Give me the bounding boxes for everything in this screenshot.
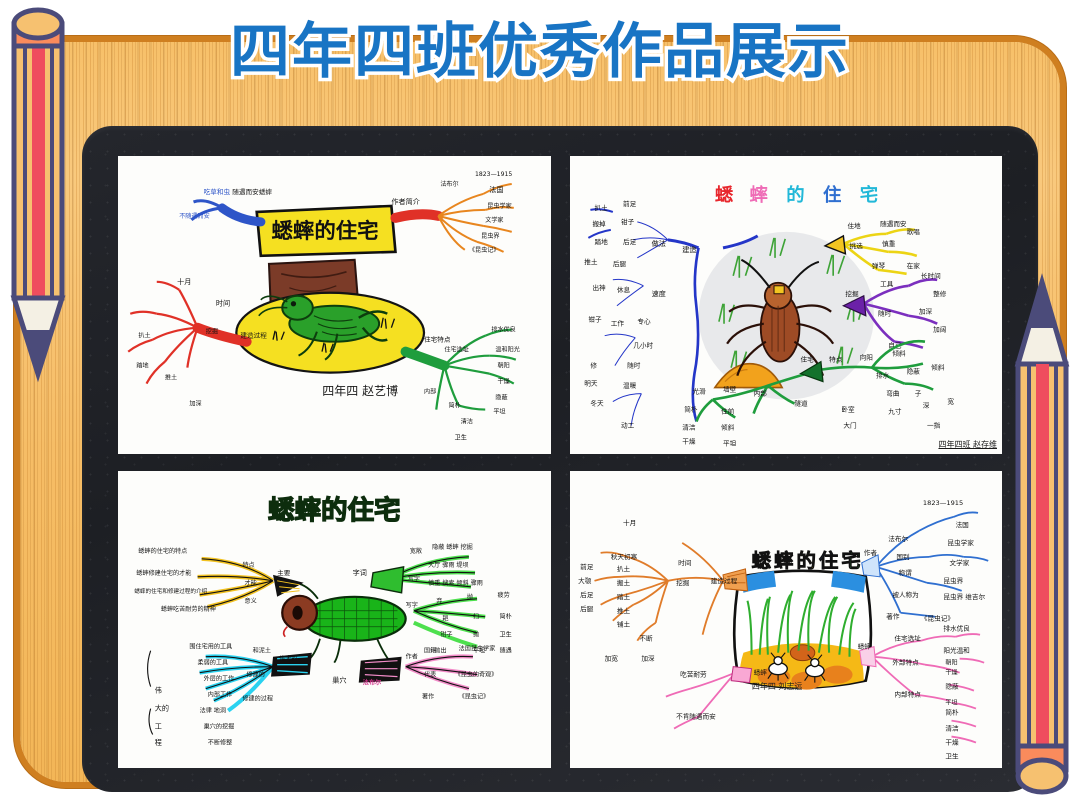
svg-text:建造过程: 建造过程 (710, 575, 737, 584)
svg-text:《昆虫记》: 《昆虫记》 (469, 246, 500, 254)
svg-text:明天: 明天 (584, 380, 598, 388)
svg-text:慎重: 慎重 (882, 239, 896, 248)
svg-text:慎重 搜索 倾斜 骤雨: 慎重 搜索 倾斜 骤雨 (428, 578, 483, 586)
svg-text:简朴: 简朴 (684, 405, 698, 414)
svg-text:国别: 国别 (896, 551, 909, 560)
svg-text:巢穴: 巢穴 (332, 675, 346, 684)
svg-text:卫生: 卫生 (945, 751, 959, 760)
svg-text:代表: 代表 (424, 670, 436, 678)
svg-text:倾斜: 倾斜 (720, 423, 734, 432)
svg-text:加阔: 加阔 (933, 325, 946, 334)
svg-text:推土: 推土 (165, 374, 177, 382)
mindmap-drawing-1: 蟋蟀的住宅 吃草和虫 不随遇而安 随遇而安蟋蟀 (118, 156, 551, 454)
svg-text:内部: 内部 (424, 388, 436, 396)
svg-text:倾斜: 倾斜 (931, 363, 945, 372)
svg-text:内部工作: 内部工作 (208, 690, 232, 698)
svg-text:伟: 伟 (155, 685, 162, 694)
svg-text:伟大的: 伟大的 (279, 654, 297, 662)
svg-text:歌唱: 歌唱 (906, 227, 920, 236)
svg-text:十月: 十月 (177, 277, 191, 286)
svg-text:蟋蟀吃苦耐劳的精神: 蟋蟀吃苦耐劳的精神 (161, 604, 216, 612)
svg-text:1823—1915: 1823—1915 (922, 499, 962, 507)
svg-text:蟋蟀的住宅: 蟋蟀的住宅 (272, 218, 379, 243)
svg-text:时间: 时间 (216, 299, 230, 308)
blackboard: 蟋蟀的住宅 吃草和虫 不随遇而安 随遇而安蟋蟀 (82, 126, 1038, 792)
svg-text:宽: 宽 (947, 397, 954, 406)
svg-text:不随遇而安: 不随遇而安 (179, 212, 210, 220)
svg-text:蟋蟀: 蟋蟀 (753, 667, 767, 676)
svg-text:清洁: 清洁 (461, 418, 473, 426)
svg-text:住宅选址: 住宅选址 (444, 346, 468, 354)
svg-text:挖掘: 挖掘 (206, 328, 218, 336)
mindmap-drawing-2: 扒土 前足 搬掉 钳子 踏地 后足 推土 后腿 做法 建造 出神 休息 速度 钳… (570, 156, 1003, 454)
svg-text:特点: 特点 (242, 560, 254, 568)
svg-text:意义: 意义 (244, 596, 256, 604)
svg-text:抛: 抛 (467, 592, 473, 600)
svg-text:平坦: 平坦 (723, 439, 737, 448)
svg-text:写字: 写字 (406, 600, 418, 608)
svg-text:推土: 推土 (584, 257, 598, 266)
svg-text:作者: 作者 (863, 547, 877, 556)
svg-text:住地: 住地 (847, 221, 861, 230)
artwork-signature-4: 四年四 刘志远 (752, 682, 803, 692)
svg-text:向阳: 向阳 (859, 353, 872, 362)
svg-text:扒土: 扒土 (138, 332, 150, 340)
svg-text:的: 的 (796, 549, 815, 572)
svg-text:干燥: 干燥 (497, 378, 509, 386)
svg-text:弃: 弃 (436, 596, 442, 604)
mindmap-drawing-4: 蟋 蟀 的 住 宅 (570, 471, 1003, 769)
artwork-panel-grid: 蟋蟀的住宅 吃草和虫 不随遇而安 随遇而安蟋蟀 (118, 156, 1002, 768)
svg-text:挖掘: 挖掘 (845, 289, 859, 298)
svg-text:国籍: 国籍 (424, 646, 436, 654)
svg-text:平坦: 平坦 (945, 698, 957, 706)
svg-text:搬掉: 搬掉 (592, 219, 606, 228)
svg-text:九寸: 九寸 (888, 407, 902, 416)
pencil-right (1012, 268, 1072, 806)
svg-text:加深: 加深 (918, 307, 932, 316)
svg-text:内部: 内部 (753, 389, 767, 398)
svg-text:被人称为: 被人称为 (892, 589, 918, 598)
svg-text:扫: 扫 (473, 612, 479, 620)
svg-text:卫生: 卫生 (499, 630, 511, 638)
svg-text:吃苦耐劳: 吃苦耐劳 (680, 669, 707, 678)
svg-text:一指: 一指 (927, 421, 941, 430)
svg-text:不断: 不断 (639, 633, 653, 642)
svg-text:排水: 排水 (876, 371, 890, 380)
svg-text:著作: 著作 (886, 611, 900, 620)
svg-text:作者简介: 作者简介 (391, 197, 420, 206)
svg-text:做法: 做法 (651, 239, 665, 248)
artwork-signature-2: 四年四班 赵存维 (938, 440, 997, 450)
svg-text:法律 地洞: 法律 地洞 (200, 706, 226, 714)
svg-text:昆虫界: 昆虫界 (943, 575, 963, 584)
svg-text:时间: 时间 (678, 557, 691, 566)
svg-text:修建的过程: 修建的过程 (242, 694, 273, 702)
svg-text:《昆虫记》: 《昆虫记》 (459, 692, 490, 700)
svg-text:后腿: 后腿 (580, 603, 594, 612)
svg-text:阳光温和: 阳光温和 (943, 645, 969, 654)
svg-text:踏土: 踏土 (616, 591, 630, 600)
svg-text:前足: 前足 (623, 199, 637, 208)
svg-text:昆虫界 维吉尔: 昆虫界 维吉尔 (943, 591, 985, 600)
svg-text:宽敞: 宽敞 (410, 546, 422, 554)
svg-text:大的: 大的 (155, 703, 169, 712)
svg-text:几小时: 几小时 (633, 341, 653, 350)
svg-text:后足: 后足 (580, 589, 594, 598)
svg-text:加宽: 加宽 (604, 653, 618, 662)
svg-text:卧室: 卧室 (841, 405, 855, 414)
svg-text:随遇: 随遇 (499, 646, 511, 654)
svg-text:不断修整: 不断修整 (208, 738, 232, 746)
svg-text:昆虫学家: 昆虫学家 (487, 202, 511, 210)
svg-text:宅: 宅 (859, 184, 877, 206)
svg-text:加深: 加深 (189, 400, 201, 408)
svg-text:法布尔: 法布尔 (888, 533, 908, 542)
svg-text:写字: 写字 (408, 574, 420, 582)
svg-text:建造过程: 建造过程 (240, 331, 267, 340)
svg-text:昆虫学家: 昆虫学家 (947, 537, 974, 546)
svg-text:冬天: 冬天 (590, 399, 604, 408)
svg-text:动工: 动工 (621, 422, 635, 430)
mindmap-drawing-3: 蟋蟀的住宅 (118, 471, 551, 769)
svg-text:著作: 著作 (422, 692, 434, 700)
svg-text:法国: 法国 (489, 185, 503, 194)
svg-text:文学家: 文学家 (485, 216, 503, 224)
svg-text:法国昆虫学家: 法国昆虫学家 (459, 644, 496, 652)
svg-text:宅: 宅 (841, 549, 860, 572)
svg-text:干燥: 干燥 (945, 668, 957, 676)
svg-text:干燥: 干燥 (945, 737, 959, 746)
svg-text:程: 程 (155, 737, 162, 746)
svg-text:专心: 专心 (637, 317, 651, 326)
svg-text:十月: 十月 (623, 517, 636, 526)
svg-text:住宅特点: 住宅特点 (424, 335, 451, 344)
svg-text:修: 修 (590, 361, 597, 370)
svg-text:钳子: 钳子 (588, 315, 602, 324)
svg-text:不肯随遇而安: 不肯随遇而安 (676, 711, 716, 720)
artwork-panel-top-left[interactable]: 蟋蟀的住宅 吃草和虫 不随遇而安 随遇而安蟋蟀 (118, 156, 551, 454)
svg-text:蟋: 蟋 (714, 185, 733, 206)
svg-text:整修: 整修 (933, 289, 947, 298)
bulletin-board-screen: 蟋蟀的住宅 吃草和虫 不随遇而安 随遇而安蟋蟀 (0, 0, 1080, 810)
svg-text:大门: 大门 (843, 421, 856, 430)
svg-text:特点: 特点 (829, 355, 843, 364)
svg-text:搬土: 搬土 (616, 577, 630, 586)
svg-text:清洁: 清洁 (945, 723, 959, 732)
svg-text:修建的: 修建的 (247, 670, 265, 678)
svg-text:随遇而安蟋蟀: 随遇而安蟋蟀 (232, 187, 272, 196)
svg-text:抛: 抛 (473, 630, 479, 638)
svg-text:内部特点: 内部特点 (894, 689, 921, 698)
svg-text:长时间: 长时间 (920, 271, 940, 280)
svg-text:隐蔽: 隐蔽 (495, 394, 507, 402)
svg-text:前足: 前足 (580, 561, 594, 570)
svg-text:后腿: 后腿 (612, 259, 626, 268)
svg-text:简朴: 简朴 (499, 612, 511, 620)
svg-text:扒土: 扒土 (616, 563, 630, 572)
svg-text:外部特点: 外部特点 (892, 657, 919, 666)
svg-text:后足: 后足 (623, 237, 637, 246)
svg-text:蟋蟀: 蟋蟀 (857, 641, 871, 650)
svg-text:蟋蟀修建住宅的才能: 蟋蟀修建住宅的才能 (136, 568, 191, 576)
svg-text:清洁: 清洁 (682, 423, 696, 432)
svg-text:墙壁: 墙壁 (723, 385, 737, 394)
svg-text:排水优良: 排水优良 (943, 623, 970, 632)
svg-text:简朴: 简朴 (448, 402, 460, 410)
svg-text:蟋: 蟋 (751, 549, 771, 572)
svg-text:大厅 骤雨 堤坝: 大厅 骤雨 堤坝 (428, 560, 469, 568)
svg-text:扒土: 扒土 (594, 203, 608, 212)
svg-text:速度: 速度 (651, 289, 665, 298)
svg-text:住: 住 (822, 184, 840, 206)
svg-text:称谓: 称谓 (898, 567, 912, 576)
svg-text:挑选: 挑选 (849, 241, 863, 250)
svg-text:耙: 耙 (442, 614, 448, 622)
svg-text:大颚: 大颚 (578, 575, 592, 584)
svg-text:秋天初寒: 秋天初寒 (610, 551, 637, 560)
svg-text:卫生: 卫生 (455, 434, 467, 442)
svg-text:外层的工作: 外层的工作 (204, 674, 235, 682)
svg-text:深: 深 (922, 401, 929, 410)
svg-text:蟋蟀的住宅: 蟋蟀的住宅 (268, 495, 401, 526)
svg-text:蟀: 蟀 (774, 549, 793, 572)
svg-text:法国: 法国 (955, 519, 968, 528)
svg-text:随时: 随时 (878, 309, 892, 318)
artwork-signature-1: 四年四 赵艺博 (322, 382, 398, 399)
svg-text:子: 子 (914, 390, 921, 398)
svg-text:吃草和虫: 吃草和虫 (204, 187, 231, 196)
svg-text:弹琴: 弹琴 (871, 261, 885, 270)
svg-text:踏地: 踏地 (136, 362, 148, 370)
svg-text:铺土: 铺土 (616, 619, 630, 628)
svg-text:朝阳: 朝阳 (945, 658, 957, 666)
svg-text:昆虫界: 昆虫界 (481, 232, 499, 240)
svg-text:隐蔽: 隐蔽 (945, 681, 959, 690)
svg-text:钳子: 钳子 (621, 217, 635, 226)
svg-text:随时: 随时 (627, 361, 641, 370)
svg-text:干燥: 干燥 (682, 437, 696, 446)
svg-text:巢穴的挖掘: 巢穴的挖掘 (204, 722, 235, 730)
svg-text:朝阳: 朝阳 (497, 362, 509, 370)
svg-text:《昆虫记》: 《昆虫记》 (920, 613, 953, 622)
svg-text:才能: 才能 (244, 578, 256, 586)
svg-text:柔弱的工具: 柔弱的工具 (198, 658, 229, 666)
svg-text:法布尔: 法布尔 (440, 180, 458, 188)
svg-text:挖掘: 挖掘 (676, 577, 690, 586)
svg-text:踏地: 踏地 (594, 237, 608, 246)
svg-text:推土: 推土 (616, 605, 630, 614)
artwork-panel-bottom-right[interactable]: 蟋 蟀 的 住 宅 (570, 471, 1003, 769)
svg-text:倾斜: 倾斜 (892, 349, 906, 358)
svg-text:的: 的 (786, 184, 804, 206)
svg-text:工具: 工具 (880, 280, 894, 288)
svg-text:简朴: 简朴 (945, 707, 959, 716)
svg-text:光滑: 光滑 (692, 387, 706, 396)
svg-text:随遇而安: 随遇而安 (880, 219, 907, 228)
svg-text:温暖: 温暖 (623, 381, 637, 390)
svg-text:出神: 出神 (592, 283, 606, 292)
artwork-panel-bottom-left[interactable]: 蟋蟀的住宅 (118, 471, 551, 769)
svg-text:工: 工 (155, 721, 162, 730)
svg-text:在家: 在家 (906, 261, 920, 270)
artwork-panel-top-right[interactable]: 扒土 前足 搬掉 钳子 踏地 后足 推土 后腿 做法 建造 出神 休息 速度 钳… (570, 156, 1003, 454)
pencil-left (8, 4, 68, 404)
svg-text:作者: 作者 (406, 652, 418, 660)
wooden-frame: 蟋蟀的住宅 吃草和虫 不随遇而安 随遇而安蟋蟀 (20, 42, 1060, 782)
svg-text:和泥土: 和泥土 (253, 646, 271, 654)
svg-text:蟀: 蟀 (749, 184, 767, 206)
svg-text:建造: 建造 (682, 245, 696, 254)
svg-text:住前: 住前 (720, 407, 734, 416)
svg-text:工作: 工作 (610, 319, 624, 328)
svg-text:住宅: 住宅 (800, 355, 814, 364)
svg-text:围住宅用的工具: 围住宅用的工具 (189, 642, 232, 650)
svg-text:排水优良: 排水优良 (491, 326, 515, 334)
svg-text:加深: 加深 (641, 653, 655, 662)
svg-text:隐蔽 蟋蟀 挖掘: 隐蔽 蟋蟀 挖掘 (432, 542, 473, 550)
svg-text:《昆虫的奇观》: 《昆虫的奇观》 (455, 670, 498, 678)
svg-text:疲劳: 疲劳 (497, 590, 509, 598)
svg-text:主要: 主要 (277, 567, 291, 576)
svg-text:弯曲: 弯曲 (886, 389, 899, 398)
svg-text:文学家: 文学家 (949, 557, 969, 566)
svg-text:字词: 字词 (353, 567, 367, 576)
svg-text:休息: 休息 (616, 285, 630, 294)
svg-text:住: 住 (818, 549, 837, 572)
svg-text:隐蔽: 隐蔽 (906, 367, 920, 376)
svg-text:蟋蟀的住宅和修建过程的介绍: 蟋蟀的住宅和修建过程的介绍 (134, 586, 207, 594)
svg-text:蟋蟀的住宅的特点: 蟋蟀的住宅的特点 (138, 546, 187, 554)
svg-text:住宅选址: 住宅选址 (894, 633, 921, 642)
svg-text:温和阳光: 温和阳光 (495, 346, 519, 354)
svg-text:1823—1915: 1823—1915 (475, 171, 512, 178)
svg-text:法布尔: 法布尔 (363, 678, 381, 686)
svg-text:隧道: 隧道 (794, 399, 808, 408)
svg-text:平坦: 平坦 (493, 408, 505, 416)
svg-text:钳子: 钳子 (440, 630, 452, 638)
